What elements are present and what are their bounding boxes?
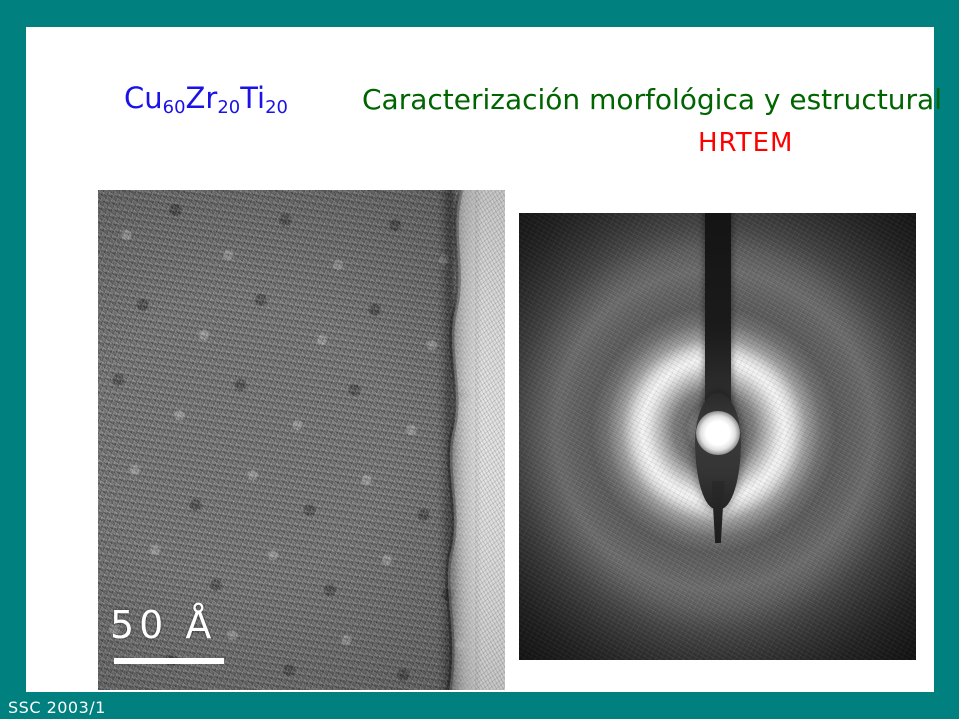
formula-element-1: Cu <box>124 81 163 115</box>
slide: Cu60Zr20Ti20 Caracterización morfológica… <box>0 0 959 719</box>
diffraction-pattern <box>519 213 916 660</box>
formula-subscript-1: 60 <box>163 97 186 118</box>
page-title: Caracterización morfológica y estructura… <box>362 83 942 116</box>
transmitted-beam-spot <box>696 411 740 455</box>
formula-subscript-3: 20 <box>265 97 288 118</box>
formula-subscript-2: 20 <box>217 97 240 118</box>
slide-footer: SSC 2003/1 <box>8 698 106 717</box>
scale-bar <box>114 658 224 664</box>
formula-element-3: Ti <box>240 81 265 115</box>
formula-element-2: Zr <box>186 81 218 115</box>
scale-bar-label: 50 Å <box>110 603 216 647</box>
composition-formula: Cu60Zr20Ti20 <box>124 81 288 118</box>
technique-subtitle: HRTEM <box>698 128 793 158</box>
slide-content-area: Cu60Zr20Ti20 Caracterización morfológica… <box>26 27 934 692</box>
